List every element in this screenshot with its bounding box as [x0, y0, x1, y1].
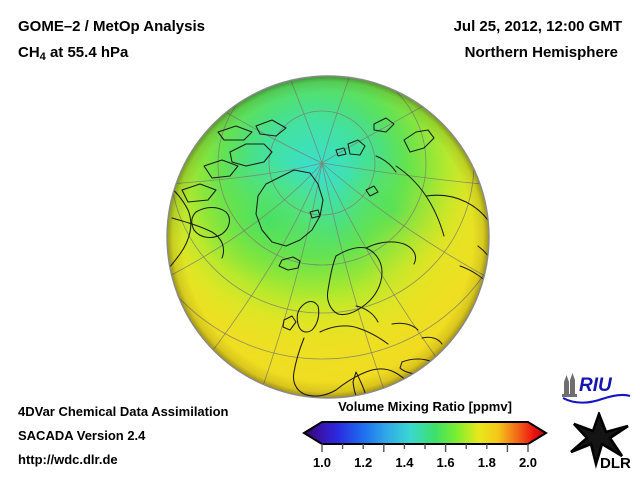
coastline-caspian-sea [446, 348, 462, 388]
colorbar-block: Volume Mixing Ratio [ppmv] [300, 398, 550, 475]
dlr-logo: DLR [566, 412, 632, 470]
colorbar-scale: 1.0 1.2 1.4 1.6 1.8 2.0 [300, 419, 550, 475]
colorbar-ramp [304, 422, 546, 444]
colorbar-tick-label: 1.2 [354, 455, 372, 470]
riu-logo: RIU [560, 372, 632, 406]
method-label: 4DVar Chemical Data Assimilation [18, 400, 308, 424]
cathedral-spires-icon [562, 373, 577, 397]
colorbar-title: Volume Mixing Ratio [ppmv] [300, 398, 550, 416]
dlr-logo-text: DLR [600, 455, 631, 470]
source-url[interactable]: http://wdc.dlr.de [18, 448, 308, 472]
colorbar-tick-label: 1.4 [395, 455, 414, 470]
footer-credit-block: 4DVar Chemical Data Assimilation SACADA … [18, 400, 308, 472]
species-formula: CH [18, 44, 40, 61]
riu-logo-mark: RIU [560, 372, 632, 406]
version-label: SACADA Version 2.4 [18, 424, 308, 448]
dlr-logo-mark: DLR [566, 412, 632, 470]
colorbar-tick-label: 2.0 [519, 455, 537, 470]
globe-map-panel [160, 70, 500, 406]
riu-logo-text: RIU [579, 375, 613, 396]
colorbar-ticks [322, 444, 528, 452]
hemisphere-label: Northern Hemisphere [322, 40, 622, 66]
globe-limb-shading [167, 76, 489, 398]
colorbar-tick-label: 1.8 [478, 455, 496, 470]
species-level-label: CH4 at 55.4 hPa [18, 40, 318, 70]
header-left-block: GOME–2 / MetOp Analysis CH4 at 55.4 hPa [18, 14, 318, 70]
colorbar-tick-label: 1.0 [313, 455, 331, 470]
orthographic-globe [160, 70, 500, 406]
header-right-block: Jul 25, 2012, 12:00 GMT Northern Hemisph… [322, 14, 622, 66]
datetime-label: Jul 25, 2012, 12:00 GMT [322, 14, 622, 40]
colorbar-tick-labels: 1.0 1.2 1.4 1.6 1.8 2.0 [313, 455, 537, 470]
analysis-title: GOME–2 / MetOp Analysis [18, 14, 318, 40]
pressure-level-text: at 55.4 hPa [46, 44, 129, 61]
colorbar-tick-label: 1.6 [437, 455, 455, 470]
